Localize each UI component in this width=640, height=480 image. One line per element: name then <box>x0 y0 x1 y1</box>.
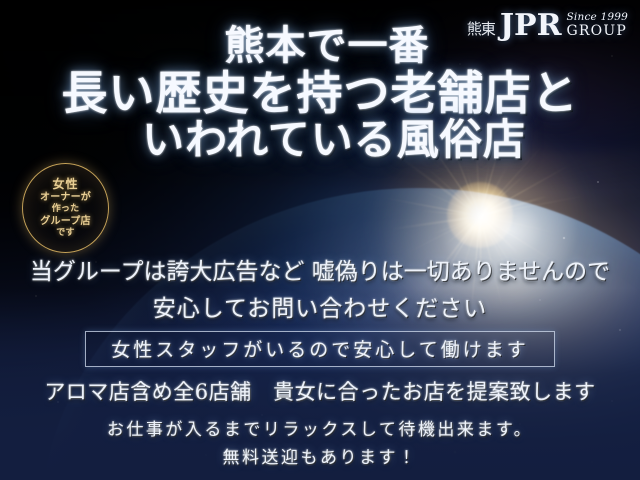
body-line-1: 当グループは誇大広告など 嘘偽りは一切ありませんので <box>0 252 640 286</box>
badge-text: 女性 オーナーが 作った グループ店 です <box>40 177 91 240</box>
body-line-4: お仕事が入るまでリラックスして待機出来ます。 <box>0 415 640 440</box>
logo-since: Since 1999 <box>567 12 628 23</box>
badge-line-1: 女性 <box>40 177 91 192</box>
body-line-3: アロマ店含め全6店舗 貴女に合ったお店を提案致します <box>0 376 640 406</box>
headline-line-2: 長い歴史を持つ老舗店と <box>0 70 640 117</box>
highlight-box: 女性スタッフがいるので安心して働けます <box>85 331 555 367</box>
banner-content: 熊東 JPR Since 1999 GROUP 熊本で一番 長い歴史を持つ老舗店… <box>0 0 640 480</box>
headline: 熊本で一番 長い歴史を持つ老舗店と いわれている風俗店 <box>0 26 640 162</box>
body-copy: 当グループは誇大広告など 嘘偽りは一切ありませんので 安心してお問い合わせくださ… <box>0 252 640 468</box>
female-owner-badge: 女性 オーナーが 作った グループ店 です <box>22 163 109 253</box>
headline-line-1: 熊本で一番 <box>0 26 640 67</box>
headline-line-3: いわれている風俗店 <box>0 119 640 162</box>
badge-line-5: です <box>40 228 91 239</box>
body-line-2: 安心してお問い合わせください <box>0 289 640 323</box>
badge-line-2: オーナーが <box>40 192 91 205</box>
body-line-5: 無料送迎もあります！ <box>0 443 640 468</box>
promo-banner: 熊東 JPR Since 1999 GROUP 熊本で一番 長い歴史を持つ老舗店… <box>0 0 640 480</box>
badge-line-4: グループ店 <box>40 216 91 229</box>
badge-line-3: 作った <box>40 204 91 215</box>
